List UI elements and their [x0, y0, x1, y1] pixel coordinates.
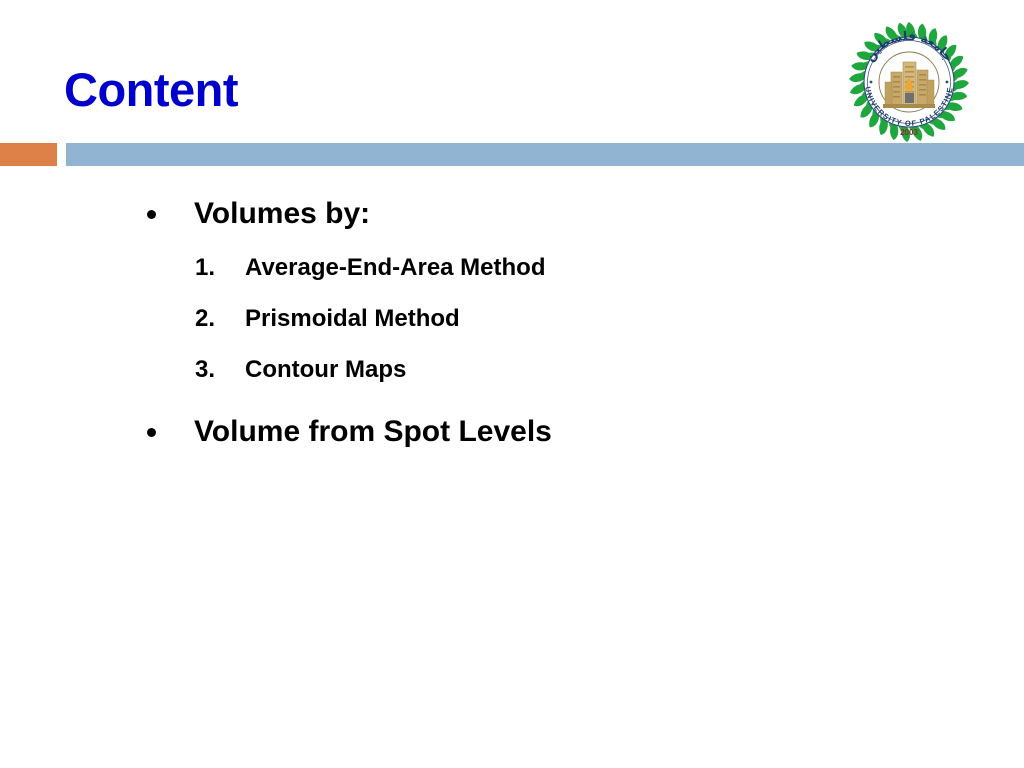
presentation-slide: Content — [0, 0, 1024, 768]
page-title: Content — [64, 66, 238, 113]
bullet-label-volumes-by: Volumes by: — [194, 196, 370, 232]
list-item: 2. Prismoidal Method — [0, 303, 1024, 354]
divider-accent-block — [0, 143, 57, 166]
list-label-prismoidal-method: Prismoidal Method — [245, 303, 460, 335]
list-item: Volume from Spot Levels — [0, 414, 1024, 461]
list-item: 1. Average-End-Area Method — [0, 252, 1024, 303]
list-label-average-end-area-method: Average-End-Area Method — [245, 252, 546, 284]
bullet-label-volume-from-spot-levels: Volume from Spot Levels — [194, 414, 552, 450]
list-label-contour-maps: Contour Maps — [245, 354, 406, 386]
list-item: Volumes by: — [0, 196, 1024, 243]
university-logo: جامعة فلسطين UNIVERSITY OF PALESTINE 200… — [841, 16, 977, 148]
list-number: 1. — [195, 252, 215, 284]
list-number: 2. — [195, 303, 215, 335]
content-body: Volumes by: 1. Average-End-Area Method 2… — [0, 196, 1024, 461]
divider-main-bar — [66, 143, 1024, 166]
list-number: 3. — [195, 354, 215, 386]
bullet-dot-icon — [147, 210, 156, 219]
logo-year-text: 2003 — [900, 128, 918, 137]
bullet-dot-icon — [147, 428, 156, 437]
list-item: 3. Contour Maps — [0, 354, 1024, 405]
header-divider — [0, 143, 1024, 166]
